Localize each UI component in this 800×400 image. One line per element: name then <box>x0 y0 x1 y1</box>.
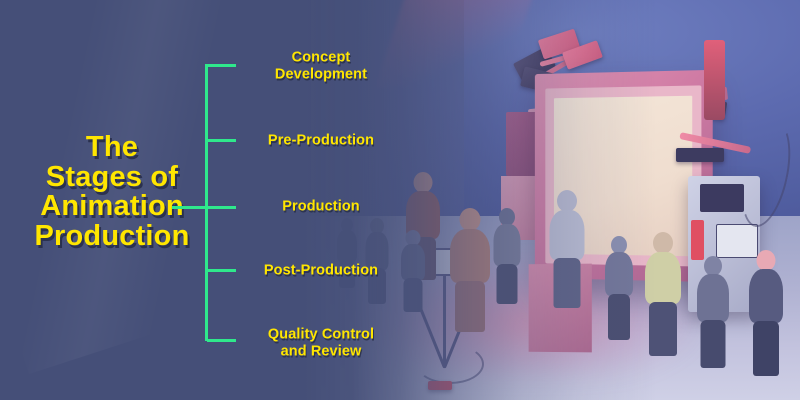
timeline-axis <box>205 64 208 341</box>
stage-label-concept-development: Concept Development <box>258 49 384 82</box>
stage-label-line: Post-Production <box>258 263 384 280</box>
stage-label-line: Production <box>258 199 384 216</box>
page-title: The Stages of Animation Production <box>8 133 216 251</box>
stage-label-production: Production <box>258 199 384 216</box>
timeline-tick-5 <box>207 339 236 342</box>
timeline-tick-3 <box>172 206 236 209</box>
stage-label-line: Pre-Production <box>258 133 384 150</box>
infographic-canvas: The Stages of Animation Production Conce… <box>0 0 800 400</box>
stage-label-line: Quality Control <box>258 326 384 343</box>
stage-label-line: Development <box>258 66 384 83</box>
stage-label-pre-production: Pre-Production <box>258 133 384 150</box>
timeline-tick-1 <box>207 64 236 67</box>
title-line-1: The <box>8 133 216 163</box>
title-line-4: Production <box>8 222 216 252</box>
stage-label-line: and Review <box>258 343 384 360</box>
title-line-2: Stages of <box>8 163 216 193</box>
stage-label-line: Concept <box>258 49 384 66</box>
timeline-tick-4 <box>207 269 236 272</box>
timeline-tick-2 <box>207 139 236 142</box>
stage-label-quality-control-and-review: Quality Control and Review <box>258 326 384 359</box>
stage-label-post-production: Post-Production <box>258 263 384 280</box>
